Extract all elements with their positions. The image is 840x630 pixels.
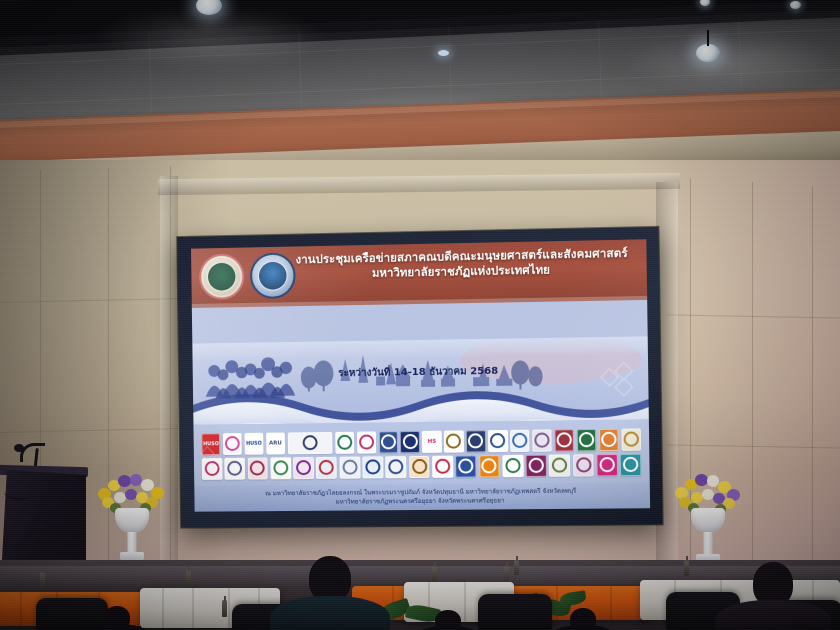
partner-logo: HS <box>422 430 442 452</box>
partner-logo <box>554 429 574 451</box>
flower-arrangement-left <box>92 470 172 574</box>
microphone-head-icon <box>14 444 24 452</box>
partner-logo-mark-icon <box>512 433 527 448</box>
vase-bowl <box>691 508 725 534</box>
partner-logo <box>532 429 552 451</box>
person-shoulders <box>552 625 614 630</box>
partner-logo <box>599 428 619 450</box>
partner-logo <box>316 456 337 478</box>
partner-logo <box>573 454 594 476</box>
water-bottle <box>504 566 509 582</box>
partner-logo <box>510 429 530 451</box>
partner-logo <box>339 456 360 478</box>
banner-header-text: งานประชุมเครือข่ายสภาคณบดีคณะมนุษยศาสตร์… <box>289 246 634 282</box>
audience-person <box>552 608 614 630</box>
screen-content: งานประชุมเครือข่ายสภาคณบดีคณะมนุษยศาสตร์… <box>191 239 650 511</box>
partner-logo <box>488 429 508 451</box>
vase-stem <box>704 532 713 554</box>
partner-logo <box>362 456 383 478</box>
partner-logo <box>293 457 314 479</box>
partner-logo-mark-icon <box>205 461 220 476</box>
ceiling-spotlight <box>696 44 720 62</box>
partner-logo <box>466 430 486 452</box>
university-emblem-icon <box>199 254 245 300</box>
partner-logo-mark-icon <box>534 433 549 448</box>
partner-logo <box>621 428 641 450</box>
partner-logo <box>287 431 332 453</box>
partner-logo-mark-icon <box>365 459 380 474</box>
partner-logo-mark-icon <box>319 460 334 475</box>
partner-logo-mark-icon <box>359 434 374 449</box>
partner-logo-mark-icon <box>337 435 352 450</box>
partner-logo-label: HUSO <box>203 441 219 447</box>
partner-logo-mark-icon <box>579 432 594 447</box>
audience-person <box>86 606 148 630</box>
partner-logo-mark-icon <box>381 434 396 449</box>
person-shoulders <box>86 624 148 630</box>
ceiling-spotlight <box>790 1 801 9</box>
partner-logo <box>549 454 570 476</box>
water-bottle <box>40 572 45 588</box>
partner-logo <box>357 431 377 453</box>
partner-logo-mark-icon <box>552 457 567 472</box>
partner-logo <box>577 428 597 450</box>
banner-event-date: ระหว่างวันที่ 14-18 ธันวาคม 2568 <box>338 366 498 379</box>
partner-logo <box>400 430 420 452</box>
partner-logo-mark-icon <box>296 460 311 475</box>
partner-logo-mark-icon <box>557 432 572 447</box>
bouquet-left <box>94 470 170 512</box>
partner-logo: HUSO <box>201 433 220 455</box>
wall-panel-joint <box>812 186 813 571</box>
ceiling-downlight <box>438 50 449 56</box>
partner-logo <box>378 431 398 453</box>
partner-logo-mark-icon <box>490 433 505 448</box>
partner-logo-mark-icon <box>623 432 639 447</box>
partner-logo-mark-icon <box>623 457 639 472</box>
partner-logo-label: ARU <box>269 440 282 446</box>
water-bottle <box>514 560 519 575</box>
partner-logo-mark-icon <box>458 458 473 473</box>
logo-row-2 <box>202 453 642 479</box>
partner-logo-mark-icon <box>250 461 265 476</box>
partner-logo-mark-icon <box>227 461 242 476</box>
partner-logo-mark-icon <box>435 459 450 474</box>
partner-logo <box>335 431 355 453</box>
partner-logo <box>479 455 500 477</box>
partner-logo-label: HUSO <box>246 440 262 446</box>
partner-logo-mark-icon <box>273 460 288 475</box>
partner-logo-label: HS <box>428 438 437 444</box>
partner-logo-mark-icon <box>302 435 317 450</box>
partner-logo <box>596 453 617 475</box>
water-bottle <box>684 560 689 576</box>
partner-logo-mark-icon <box>482 458 497 473</box>
partner-logo <box>202 457 223 479</box>
audience-person <box>416 610 480 630</box>
partner-logo <box>270 457 291 479</box>
partner-logo <box>224 457 245 479</box>
partner-logo-mark-icon <box>468 433 483 448</box>
chair-back <box>478 594 552 630</box>
logo-row-1: HUSOHUSOARUHS <box>201 428 641 455</box>
partner-logo-grid: HUSOHUSOARUHS <box>193 419 649 488</box>
audience-person <box>268 556 392 630</box>
partner-logo <box>409 455 430 477</box>
partner-logo-mark-icon <box>388 459 403 474</box>
banner-emblems <box>199 252 296 299</box>
partner-logo <box>620 453 642 475</box>
partner-logo <box>502 454 523 476</box>
water-bottle <box>432 566 437 582</box>
person-shoulders <box>416 626 480 630</box>
wall-panel-joint <box>752 182 753 572</box>
led-presentation-screen[interactable]: งานประชุมเครือข่ายสภาคณบดีคณะมนุษยศาสตร์… <box>177 227 662 528</box>
partner-logo-mark-icon <box>601 432 616 447</box>
partner-logo-mark-icon <box>576 457 591 472</box>
audience-person <box>714 562 832 630</box>
partner-logo <box>444 430 464 452</box>
banner-footer-band: ณ มหาวิทยาลัยราชภัฏวไลยอลงกรณ์ ในพระบรมร… <box>194 482 650 512</box>
partner-logo-mark-icon <box>402 434 417 449</box>
partner-logo <box>432 455 453 477</box>
partner-logo-mark-icon <box>529 458 544 473</box>
flower-petal <box>118 475 131 487</box>
partner-logo <box>247 457 268 479</box>
partner-logo-mark-icon <box>412 459 427 474</box>
vase-foot <box>120 552 144 560</box>
partner-logo-mark-icon <box>599 457 614 472</box>
partner-logo-mark-icon <box>342 460 357 475</box>
vase-stem <box>128 532 137 554</box>
partner-logo <box>385 456 406 478</box>
water-bottle <box>186 570 191 586</box>
partner-logo <box>526 454 547 476</box>
vase-bowl <box>115 508 149 534</box>
partner-logo-mark-icon <box>225 436 240 451</box>
partner-logo <box>455 455 476 477</box>
spotlight-stem <box>707 30 709 46</box>
bouquet-right <box>670 470 746 512</box>
partner-logo: ARU <box>266 432 285 454</box>
partner-logo-mark-icon <box>505 458 520 473</box>
ceiling-light-glow <box>620 30 840 94</box>
partner-logo-mark-icon <box>446 434 461 449</box>
person-shoulders <box>270 596 390 630</box>
person-shoulders <box>715 600 831 630</box>
partner-logo <box>223 433 242 455</box>
banner-header-band: งานประชุมเครือข่ายสภาคณบดีคณะมนุษยศาสตร์… <box>191 239 647 308</box>
conference-hall-photo: งานประชุมเครือข่ายสภาคณบดีคณะมนุษยศาสตร์… <box>0 0 840 630</box>
water-bottle <box>222 600 227 617</box>
partner-logo: HUSO <box>244 432 263 454</box>
ceiling-light-glow <box>90 8 330 68</box>
